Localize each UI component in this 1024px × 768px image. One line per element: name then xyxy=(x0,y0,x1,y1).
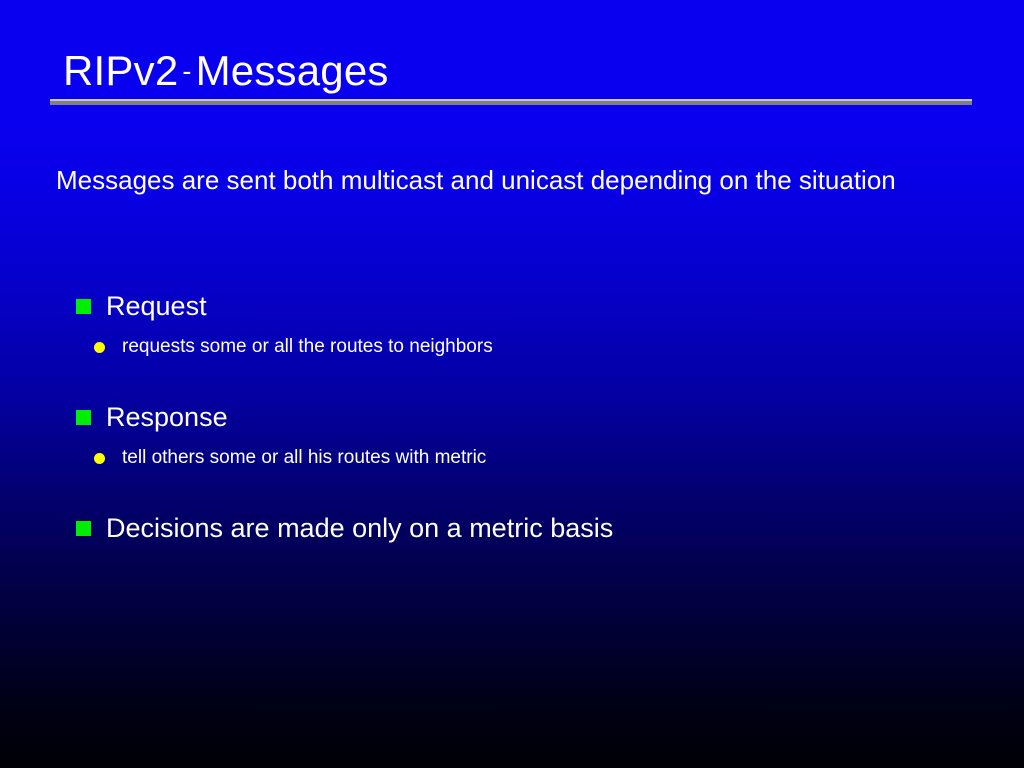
bullet-level1-label: Response xyxy=(106,402,228,432)
bullet-level2-label: requests some or all the routes to neigh… xyxy=(122,336,493,357)
bullet-level2-response-detail: tell others some or all his routes with … xyxy=(56,446,486,470)
lead-paragraph: Messages are sent both multicast and uni… xyxy=(56,158,936,203)
circle-bullet-icon xyxy=(94,342,105,353)
bullet-group-request: Request requests some or all the routes … xyxy=(56,290,493,359)
title-separator-dash: - xyxy=(178,56,195,86)
square-bullet-icon xyxy=(76,410,91,425)
presentation-slide: RIPv2-Messages Messages are sent both mu… xyxy=(0,0,1024,768)
page-title: RIPv2-Messages xyxy=(50,46,974,96)
title-main-text: RIPv2 xyxy=(63,47,178,94)
title-divider-body xyxy=(50,101,972,105)
square-bullet-icon xyxy=(76,299,91,314)
bullet-level1-label: Decisions are made only on a metric basi… xyxy=(106,513,613,543)
square-bullet-icon xyxy=(76,521,91,536)
bullet-level1-response: Response xyxy=(56,401,486,433)
slide-body: Messages are sent both multicast and uni… xyxy=(56,158,986,203)
slide-title-block: RIPv2-Messages xyxy=(50,46,974,96)
bullet-level1-request: Request xyxy=(56,290,493,322)
bullet-level2-label: tell others some or all his routes with … xyxy=(122,447,486,468)
bullet-group-decisions: Decisions are made only on a metric basi… xyxy=(56,512,613,544)
circle-bullet-icon xyxy=(94,453,105,464)
title-subject-text: Messages xyxy=(196,47,389,94)
bullet-group-response: Response tell others some or all his rou… xyxy=(56,401,486,470)
bullet-level1-label: Request xyxy=(106,291,207,321)
bullet-level1-decisions: Decisions are made only on a metric basi… xyxy=(56,512,613,544)
bullet-level2-request-detail: requests some or all the routes to neigh… xyxy=(56,335,493,359)
title-divider xyxy=(50,99,972,106)
